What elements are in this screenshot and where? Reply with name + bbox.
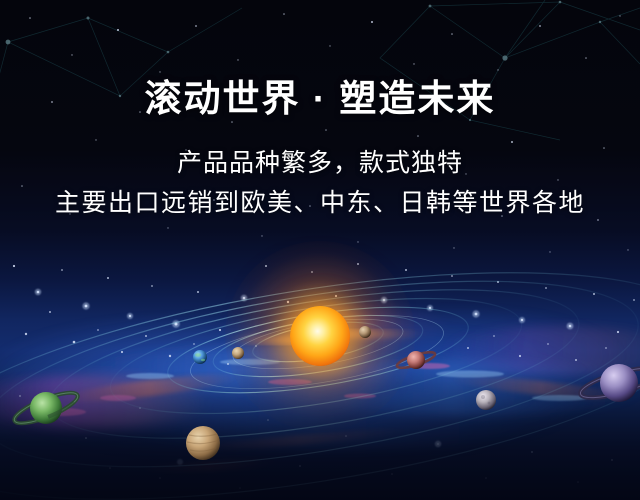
planet-red-ringed — [395, 349, 436, 371]
planet-green-ringed — [11, 387, 81, 429]
planet-grey-small — [476, 390, 496, 410]
planet-small-tan — [232, 347, 244, 359]
planet-mercury — [359, 326, 371, 338]
subtitle-line-1: 产品品种繁多，款式独特 — [0, 124, 640, 180]
planet-earth-blue — [193, 350, 207, 364]
planet-tan-large — [186, 426, 220, 460]
subtitle-line-2: 主要出口远销到欧美、中东、日韩等世界各地 — [0, 180, 640, 220]
planet-purple-ringed — [578, 362, 640, 403]
banner-copy: 滚动世界 · 塑造未来 产品品种繁多，款式独特 主要出口远销到欧美、中东、日韩等… — [0, 0, 640, 220]
space-banner: 滚动世界 · 塑造未来 产品品种繁多，款式独特 主要出口远销到欧美、中东、日韩等… — [0, 0, 640, 500]
page-title: 滚动世界 · 塑造未来 — [0, 0, 640, 124]
